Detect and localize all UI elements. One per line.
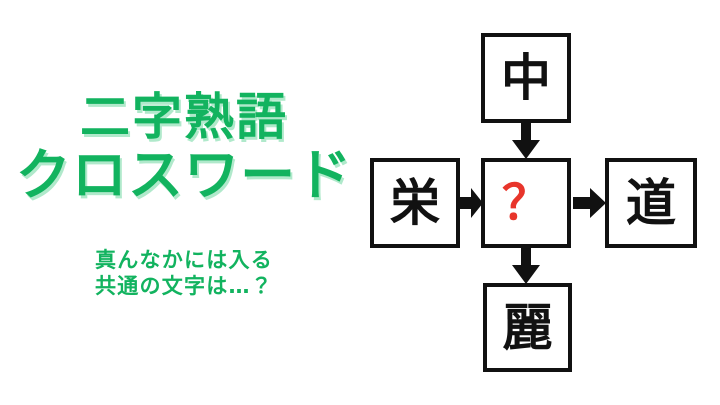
- cell-right: 道: [605, 158, 697, 248]
- cell-top-kanji: 中: [501, 53, 551, 103]
- puzzle-slide: 二字熟語 クロスワード 真んなかには入る 共通の文字は…？ 中 栄 ？ 道 麗: [0, 0, 720, 405]
- cell-center-answer[interactable]: ？: [481, 158, 571, 248]
- cell-center-question-mark: ？: [502, 179, 550, 227]
- cell-bottom: 麗: [483, 283, 572, 372]
- subtitle-line-2: 共通の文字は…？: [0, 274, 368, 300]
- cell-top: 中: [481, 33, 571, 123]
- crossword-diagram: 中 栄 ？ 道 麗: [360, 0, 720, 405]
- arrow-down-icon-top-to-center: [509, 121, 543, 160]
- title-block: 二字熟語 クロスワード: [0, 92, 368, 203]
- subtitle-block: 真んなかには入る 共通の文字は…？: [0, 248, 368, 299]
- cell-left: 栄: [370, 158, 460, 248]
- cell-left-kanji: 栄: [390, 178, 440, 228]
- title-line-1: 二字熟語: [0, 92, 368, 142]
- arrow-right-icon-left-to-center: [460, 186, 484, 220]
- subtitle-line-1: 真んなかには入る: [0, 248, 368, 274]
- arrow-right-icon-center-to-right: [573, 186, 607, 220]
- cell-right-kanji: 道: [626, 178, 676, 228]
- cell-bottom-kanji: 麗: [503, 303, 553, 353]
- title-line-2: クロスワード: [0, 148, 368, 203]
- arrow-down-icon-center-to-bottom: [509, 246, 543, 285]
